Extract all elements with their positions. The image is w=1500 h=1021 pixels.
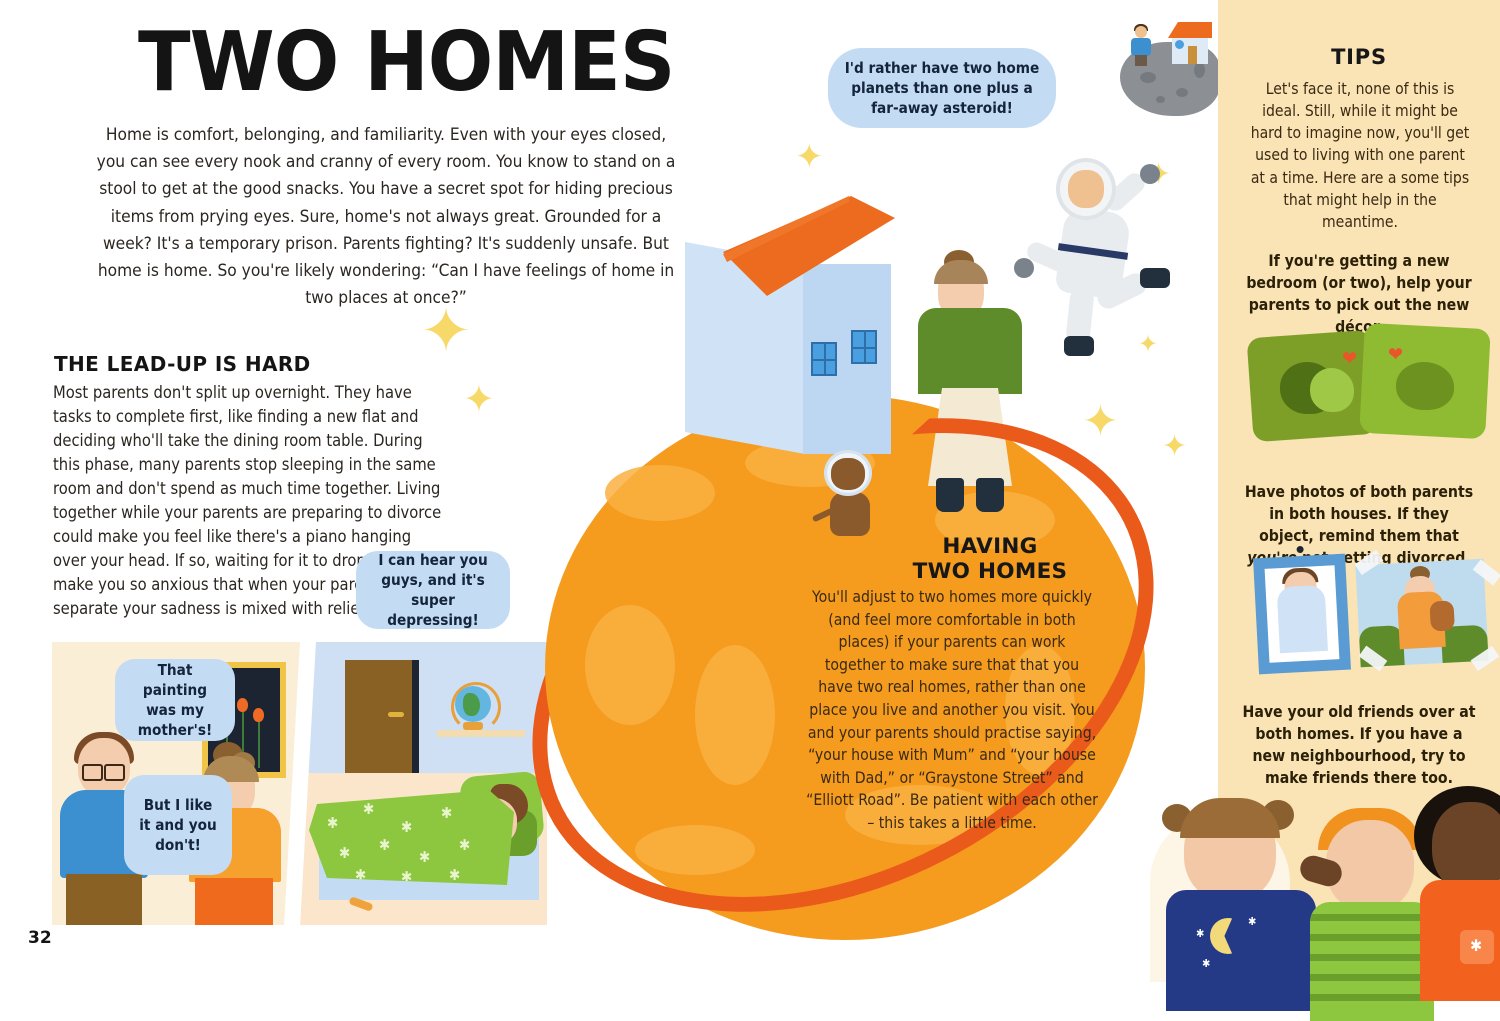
having-heading-line2: TWO HOMES <box>880 560 1100 585</box>
star-icon: ✦ <box>463 380 495 418</box>
page-number: 32 <box>28 928 52 948</box>
star-icon: ✦ <box>795 140 824 174</box>
speech-bubble-rather: I'd rather have two home planets than on… <box>828 48 1056 128</box>
speech-bubble-like: But I like it and you don't! <box>124 775 232 875</box>
dinosaur-pillows-illustration: ❤ ❤ <box>1250 322 1500 442</box>
globe-icon <box>455 686 491 722</box>
lead-up-heading: THE LEAD-UP IS HARD <box>54 352 311 376</box>
comic-panel-child-bedroom: ✱ ✱ ✱ ✱ ✱ ✱ ✱ ✱ ✱ ✱ ✱ <box>297 642 547 925</box>
book-spread: ✦ ✦ ✦ ✦ ✦ ✦ ✦ ✦ TWO HOMES Home is comfor… <box>0 0 1500 973</box>
speech-bubble-painting: That painting was my mother's! <box>115 659 235 741</box>
star-icon: ✦ <box>1082 400 1119 444</box>
window-icon <box>851 330 877 364</box>
asteroid-figure <box>1130 26 1152 66</box>
asteroid-mini-house <box>1166 22 1214 64</box>
having-two-homes-body: You'll adjust to two homes more quickly … <box>806 586 1098 835</box>
three-kids-illustration: ✱ ✱ ✱ ✱ <box>1150 760 1500 973</box>
kid-orange-dungarees: ✱ <box>1416 788 1500 973</box>
having-two-homes-heading: HAVING TWO HOMES <box>880 535 1100 584</box>
star-icon: ✱ <box>1196 928 1204 939</box>
tip-photos-before: Have photos of both parents in both hous… <box>1245 482 1473 545</box>
bedroom-door <box>345 660 412 773</box>
framed-photos-illustration <box>1248 548 1498 688</box>
astronaut-illustration <box>1040 140 1180 340</box>
page-title: TWO HOMES <box>138 22 674 104</box>
having-heading-line1: HAVING <box>880 535 1100 560</box>
house-illustration <box>685 196 890 471</box>
heart-icon: ❤ <box>1342 348 1357 368</box>
photo-taped-mum <box>1355 559 1488 668</box>
intro-paragraph: Home is comfort, belonging, and familiar… <box>96 122 676 312</box>
green-duvet: ✱ ✱ ✱ ✱ ✱ ✱ ✱ ✱ ✱ ✱ ✱ <box>309 790 514 885</box>
tips-intro: Let's face it, none of this is ideal. St… <box>1246 78 1474 233</box>
star-icon: ✦ <box>1162 432 1187 462</box>
photo-frame-dad <box>1253 554 1351 675</box>
star-icon: ✱ <box>1248 916 1256 927</box>
tips-title: TIPS <box>1218 45 1500 69</box>
heart-icon: ❤ <box>1388 344 1403 364</box>
star-icon: ✱ <box>1202 958 1210 969</box>
window-icon <box>811 342 837 376</box>
speech-bubble-hear: I can hear you guys, and it's super depr… <box>356 551 510 629</box>
flower-icon: ✱ <box>1470 938 1482 954</box>
kid-pigtails: ✱ ✱ ✱ <box>1166 798 1316 973</box>
